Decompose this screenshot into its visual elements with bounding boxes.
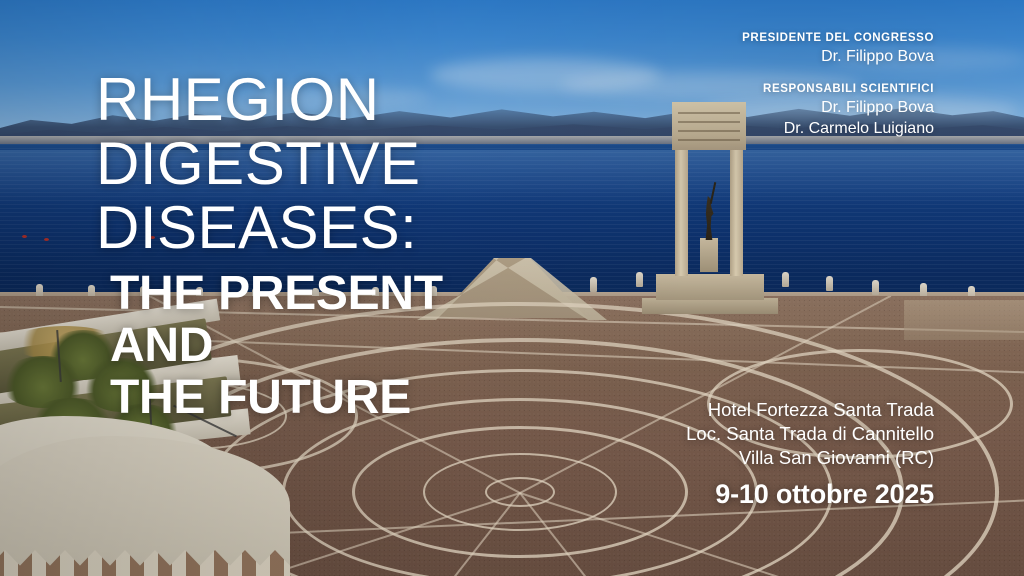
credit-role-label: RESPONSABILI SCIENTIFICI — [742, 81, 934, 97]
credit-role-label: PRESIDENTE DEL CONGRESSO — [742, 30, 934, 46]
conference-poster: RHEGION DIGESTIVE DISEASES: THE PRESENT … — [0, 0, 1024, 576]
monument-inscription — [678, 112, 740, 142]
credit-person-name: Dr. Carmelo Luigiano — [742, 118, 934, 139]
venue-hotel: Hotel Fortezza Santa Trada — [686, 398, 934, 422]
title-line-3: DISEASES: — [96, 196, 443, 260]
credit-group-president: PRESIDENTE DEL CONGRESSO Dr. Filippo Bov… — [742, 30, 934, 67]
bollard — [590, 277, 597, 292]
buoy — [44, 238, 49, 241]
bollard — [872, 280, 879, 295]
credit-group-scientific: RESPONSABILI SCIENTIFICI Dr. Filippo Bov… — [742, 81, 934, 139]
monument-arch — [672, 100, 748, 300]
event-date: 9-10 ottobre 2025 — [686, 478, 934, 510]
monument-base-lower — [642, 298, 778, 314]
bollard — [636, 272, 643, 287]
subtitle-line-2: AND — [110, 320, 443, 372]
venue-locality: Loc. Santa Trada di Cannitello — [686, 422, 934, 446]
title-line-2: DIGESTIVE — [96, 132, 443, 196]
subtitle-line-1: THE PRESENT — [110, 268, 443, 320]
credit-person-name: Dr. Filippo Bova — [742, 97, 934, 118]
credit-person-name: Dr. Filippo Bova — [742, 46, 934, 67]
poster-title-block: RHEGION DIGESTIVE DISEASES: THE PRESENT … — [96, 68, 443, 424]
credits-block: PRESIDENTE DEL CONGRESSO Dr. Filippo Bov… — [742, 30, 934, 139]
buoy — [22, 235, 27, 238]
monument-column-left — [675, 148, 688, 276]
poster-subtitle-block: THE PRESENT AND THE FUTURE — [110, 268, 443, 424]
title-line-1: RHEGION — [96, 68, 443, 132]
monument-base — [656, 274, 764, 300]
statue-spear — [710, 182, 717, 204]
bollard — [782, 272, 789, 287]
monument-lintel — [672, 102, 746, 150]
venue-city: Villa San Giovanni (RC) — [686, 446, 934, 470]
monument-column-right — [730, 148, 743, 276]
venue-block: Hotel Fortezza Santa Trada Loc. Santa Tr… — [686, 398, 934, 510]
statue-plinth — [700, 238, 718, 272]
subtitle-line-3: THE FUTURE — [110, 372, 443, 424]
right-stone-ramp — [904, 300, 1024, 340]
bollard — [826, 276, 833, 291]
